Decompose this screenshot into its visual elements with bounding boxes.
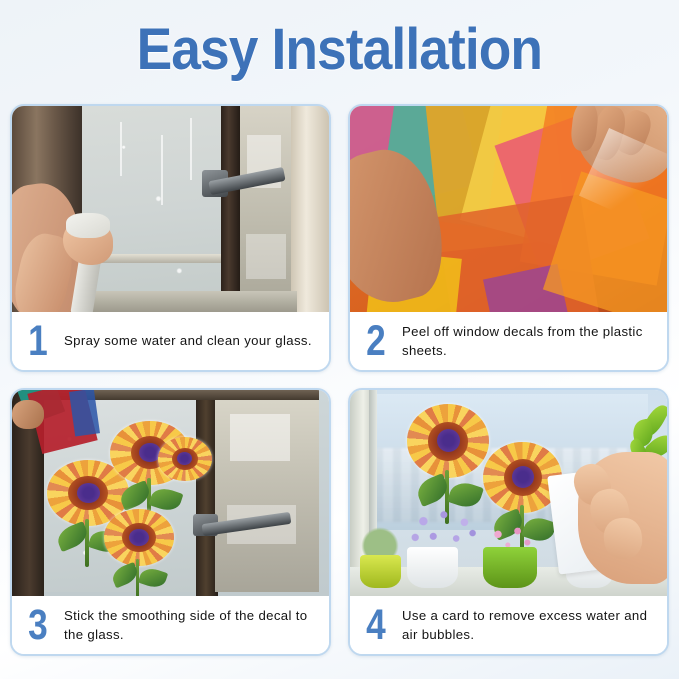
step-number-2: 2 <box>363 320 389 363</box>
step-card-4[interactable]: 4 Use a card to remove excess water and … <box>348 388 669 656</box>
flower-pot <box>407 547 458 588</box>
step-caption-1: 1 Spray some water and clean your glass. <box>12 312 329 370</box>
photo-smooth-card <box>350 390 667 596</box>
sunflower-leaf <box>138 566 169 591</box>
water-drip <box>120 122 122 176</box>
steps-grid: 1 Spray some water and clean your glass. <box>10 104 669 672</box>
step-text-4: Use a card to remove excess water and ai… <box>402 606 659 644</box>
step-card-3[interactable]: 3 Stick the smoothing side of the decal … <box>10 388 331 656</box>
step-text-2: Peel off window decals from the plastic … <box>402 322 659 360</box>
photo-spray-window <box>12 106 329 312</box>
photo-stick-decal <box>12 390 329 596</box>
step-number-4: 4 <box>363 604 389 647</box>
page-title-text: Easy Installation <box>137 16 542 83</box>
cleaning-cloth <box>66 213 110 238</box>
flower-pot <box>483 547 537 588</box>
step-caption-2: 2 Peel off window decals from the plasti… <box>350 312 667 370</box>
window-pane-right <box>215 394 320 592</box>
page-title: Easy Installation <box>0 0 679 98</box>
sunflower-core <box>437 429 460 452</box>
step-caption-3: 3 Stick the smoothing side of the decal … <box>12 596 329 654</box>
step-text-1: Spray some water and clean your glass. <box>64 331 312 350</box>
sunflower-decal <box>158 437 212 507</box>
succulent <box>356 526 404 559</box>
water-drip <box>190 118 192 180</box>
step-text-3: Stick the smoothing side of the decal to… <box>64 606 321 644</box>
sunflower-decal <box>104 509 174 596</box>
hand <box>12 400 44 429</box>
wet-glass <box>82 106 221 312</box>
photo-peel-sheets <box>350 106 667 312</box>
sunflower-core <box>512 466 534 488</box>
step-card-2[interactable]: 2 Peel off window decals from the plasti… <box>348 104 669 372</box>
window-mullion <box>369 390 377 538</box>
step-number-3: 3 <box>25 604 51 647</box>
sunflower-core <box>129 529 149 546</box>
window-sill <box>82 291 298 312</box>
step-number-1: 1 <box>25 320 51 363</box>
step-caption-4: 4 Use a card to remove excess water and … <box>350 596 667 654</box>
curtain-right <box>291 106 329 312</box>
sunflower-core <box>77 483 100 503</box>
window-pane-right <box>240 106 297 312</box>
step-card-1[interactable]: 1 Spray some water and clean your glass. <box>10 104 331 372</box>
water-drip <box>161 135 163 205</box>
flower-pot <box>360 555 401 588</box>
window-mullion <box>221 106 240 312</box>
